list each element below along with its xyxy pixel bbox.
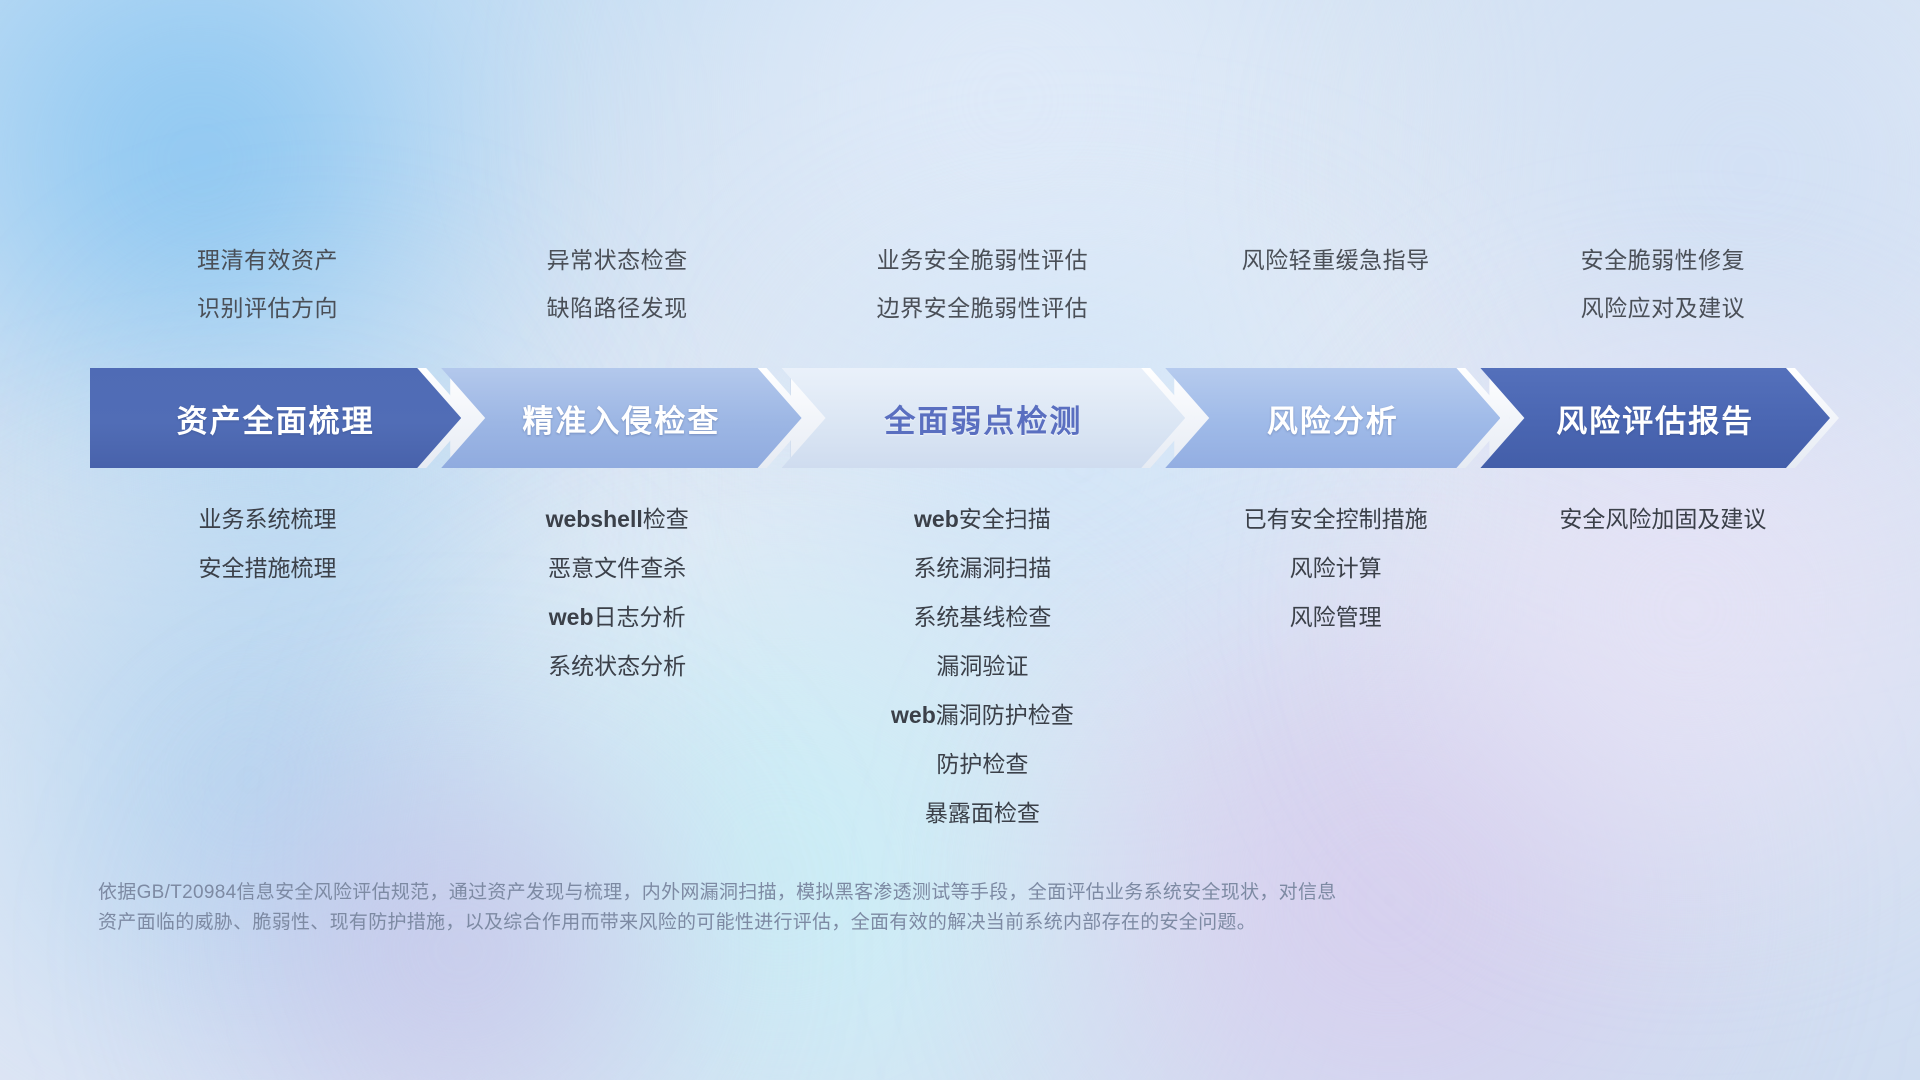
- top-caption: 业务安全脆弱性评估: [789, 236, 1175, 284]
- process-chevron-band: 资产全面梳理精准入侵检查全面弱点检测风险分析风险评估报告: [90, 368, 1830, 468]
- stage-4-top-captions: 风险轻重缓急指导: [1175, 236, 1495, 332]
- top-caption: 边界安全脆弱性评估: [789, 284, 1175, 332]
- process-stage-title: 风险分析: [1267, 396, 1399, 441]
- top-caption: 缺陷路径发现: [445, 284, 790, 332]
- stage-1-top-captions: 理清有效资产识别评估方向: [90, 236, 445, 332]
- process-stage-title: 资产全面梳理: [177, 396, 375, 441]
- process-stage-5[interactable]: 风险评估报告: [1480, 368, 1830, 468]
- bottom-caption: 系统基线检查: [789, 593, 1175, 642]
- process-stage-title: 精准入侵检查: [522, 396, 720, 441]
- bottom-caption: 恶意文件查杀: [445, 544, 790, 593]
- stage-1-bottom-captions: 业务系统梳理安全措施梳理: [90, 495, 445, 593]
- process-stage-4[interactable]: 风险分析: [1165, 368, 1500, 468]
- stage-2-bottom-captions: webshell检查恶意文件查杀web日志分析系统状态分析: [445, 495, 790, 691]
- process-stage-3[interactable]: 全面弱点检测: [782, 368, 1186, 468]
- bottom-caption: 系统状态分析: [445, 642, 790, 691]
- bottom-caption: 已有安全控制措施: [1175, 495, 1495, 544]
- stage-5-bottom-captions: 安全风险加固及建议: [1496, 495, 1830, 544]
- bottom-caption: web日志分析: [445, 593, 790, 642]
- process-stage-2[interactable]: 精准入侵检查: [441, 368, 801, 468]
- top-caption: 理清有效资产: [90, 236, 445, 284]
- top-caption: 风险轻重缓急指导: [1175, 236, 1495, 284]
- bottom-caption: 漏洞验证: [789, 642, 1175, 691]
- bottom-caption: web漏洞防护检查: [789, 691, 1175, 740]
- slide-canvas: 理清有效资产识别评估方向异常状态检查缺陷路径发现业务安全脆弱性评估边界安全脆弱性…: [0, 0, 1920, 1080]
- stage-4-bottom-captions: 已有安全控制措施风险计算风险管理: [1175, 495, 1495, 642]
- process-stage-1[interactable]: 资产全面梳理: [90, 368, 461, 468]
- top-caption: 风险应对及建议: [1496, 284, 1830, 332]
- bottom-caption: web安全扫描: [789, 495, 1175, 544]
- process-stage-title: 风险评估报告: [1556, 396, 1754, 441]
- process-stage-title: 全面弱点检测: [884, 396, 1082, 441]
- footer-line-1: 依据GB/T20984信息安全风险评估规范，通过资产发现与梳理，内外网漏洞扫描，…: [98, 878, 1638, 908]
- bottom-caption: 风险计算: [1175, 544, 1495, 593]
- bottom-caption: 风险管理: [1175, 593, 1495, 642]
- top-caption: 异常状态检查: [445, 236, 790, 284]
- footer-description: 依据GB/T20984信息安全风险评估规范，通过资产发现与梳理，内外网漏洞扫描，…: [98, 878, 1638, 938]
- bottom-caption: webshell检查: [445, 495, 790, 544]
- bottom-caption: 安全措施梳理: [90, 544, 445, 593]
- bottom-caption: 安全风险加固及建议: [1496, 495, 1830, 544]
- stage-top-captions: 理清有效资产识别评估方向异常状态检查缺陷路径发现业务安全脆弱性评估边界安全脆弱性…: [90, 236, 1830, 332]
- bottom-caption: 业务系统梳理: [90, 495, 445, 544]
- top-caption: 识别评估方向: [90, 284, 445, 332]
- stage-2-top-captions: 异常状态检查缺陷路径发现: [445, 236, 790, 332]
- bottom-caption: 系统漏洞扫描: [789, 544, 1175, 593]
- stage-5-top-captions: 安全脆弱性修复风险应对及建议: [1496, 236, 1830, 332]
- top-caption: 安全脆弱性修复: [1496, 236, 1830, 284]
- footer-line-2: 资产面临的威胁、脆弱性、现有防护措施，以及综合作用而带来风险的可能性进行评估，全…: [98, 908, 1638, 938]
- stage-bottom-captions: 业务系统梳理安全措施梳理webshell检查恶意文件查杀web日志分析系统状态分…: [90, 495, 1830, 838]
- bottom-caption: 防护检查: [789, 740, 1175, 789]
- bottom-caption: 暴露面检查: [789, 789, 1175, 838]
- stage-3-bottom-captions: web安全扫描系统漏洞扫描系统基线检查漏洞验证web漏洞防护检查防护检查暴露面检…: [789, 495, 1175, 838]
- stage-3-top-captions: 业务安全脆弱性评估边界安全脆弱性评估: [789, 236, 1175, 332]
